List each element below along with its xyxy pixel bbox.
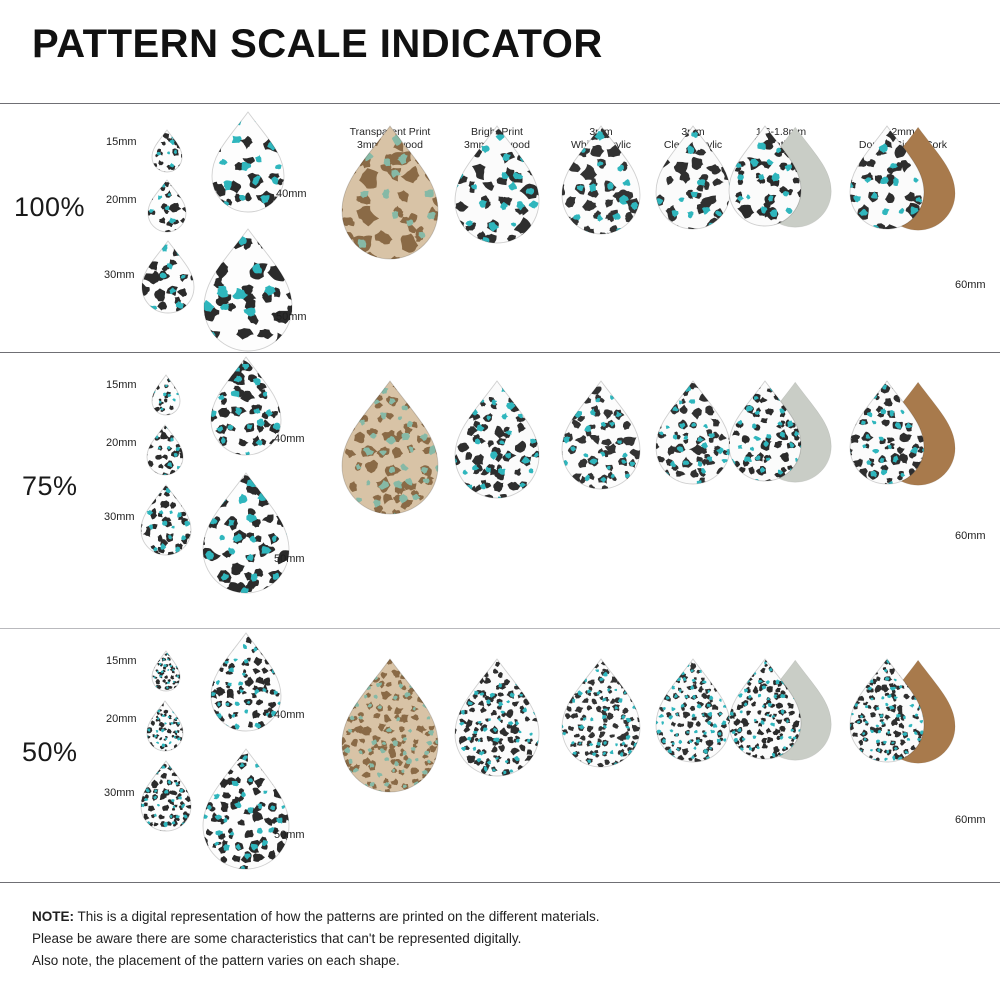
size-label-s60: 60mm <box>955 530 986 542</box>
size-label-s15: 15mm <box>106 655 137 667</box>
size-label-s30: 30mm <box>104 511 135 523</box>
size-label-s15: 15mm <box>106 136 137 148</box>
material-drop-transparent-print-plywood <box>342 659 442 797</box>
size-label-s60: 60mm <box>955 814 986 826</box>
size-label-s40: 40mm <box>274 433 305 445</box>
scale-section-scale-50: 50% 15mm 20mm 30mm 40mm <box>0 629 1000 882</box>
note-label: NOTE: <box>32 909 74 924</box>
material-drop-white-acrylic <box>562 381 644 494</box>
material-drop-clear-acrylic <box>656 126 734 234</box>
material-drop-clear-acrylic <box>656 659 734 767</box>
sampler-drop-s50 <box>203 473 293 598</box>
material-drop-leather <box>729 126 835 231</box>
size-label-s20: 20mm <box>106 437 137 449</box>
size-label-s20: 20mm <box>106 713 137 725</box>
size-label-s50: 50mm <box>274 829 305 841</box>
size-label-s15: 15mm <box>106 379 137 391</box>
size-label-s20: 20mm <box>106 194 137 206</box>
sampler-drop-s50 <box>204 229 296 356</box>
sampler-drop-s50 <box>203 749 293 874</box>
material-drop-double-sided-cork <box>850 126 959 234</box>
scale-percent-label: 75% <box>22 471 78 502</box>
sampler-drop-s15 <box>152 375 184 420</box>
pattern-scale-indicator-page: PATTERN SCALE INDICATOR Transparent Prin… <box>0 0 1000 1000</box>
size-label-s40: 40mm <box>276 188 307 200</box>
note-text-1: This is a digital representation of how … <box>74 909 600 924</box>
material-drop-transparent-print-plywood <box>342 381 442 519</box>
material-drop-double-sided-cork <box>850 659 959 767</box>
sampler-drop-s15 <box>152 130 186 177</box>
page-header: PATTERN SCALE INDICATOR <box>0 0 1000 103</box>
material-drop-bright-print-plywood <box>455 126 543 248</box>
scale-percent-label: 100% <box>14 192 85 223</box>
material-drop-bright-print-plywood <box>455 659 543 781</box>
page-title: PATTERN SCALE INDICATOR <box>32 24 603 64</box>
scale-percent-label: 50% <box>22 737 78 768</box>
size-label-s30: 30mm <box>104 787 135 799</box>
size-label-s40: 40mm <box>274 709 305 721</box>
section-divider <box>0 882 1000 883</box>
sampler-drop-s20 <box>147 425 187 480</box>
note-line-1: NOTE: This is a digital representation o… <box>32 906 600 928</box>
size-label-s50: 50mm <box>276 311 307 323</box>
sampler-drop-s20 <box>148 180 190 237</box>
sampler-drop-s15 <box>152 651 184 696</box>
sampler-drop-s30 <box>141 761 195 836</box>
scale-section-scale-75: 75% 15mm 20mm 30mm 40mm <box>0 353 1000 628</box>
note-line-3: Also note, the placement of the pattern … <box>32 950 600 972</box>
material-drop-transparent-print-plywood <box>342 126 442 264</box>
material-drop-leather <box>729 381 835 486</box>
material-drop-bright-print-plywood <box>455 381 543 503</box>
sampler-drop-s30 <box>141 485 195 560</box>
material-drop-double-sided-cork <box>850 381 959 489</box>
footer-note: NOTE: This is a digital representation o… <box>32 906 600 972</box>
sampler-drop-s30 <box>142 241 198 318</box>
scale-section-scale-100: 100% 15mm 20mm 30mm 40mm <box>0 104 1000 352</box>
sampler-drop-s40 <box>212 112 288 217</box>
note-line-2: Please be aware there are some character… <box>32 928 600 950</box>
sampler-drop-s20 <box>147 701 187 756</box>
material-drop-clear-acrylic <box>656 381 734 489</box>
size-label-s50: 50mm <box>274 553 305 565</box>
material-drop-leather <box>729 659 835 764</box>
size-label-s60: 60mm <box>955 279 986 291</box>
material-drop-white-acrylic <box>562 126 644 239</box>
size-label-s30: 30mm <box>104 269 135 281</box>
material-drop-white-acrylic <box>562 659 644 772</box>
